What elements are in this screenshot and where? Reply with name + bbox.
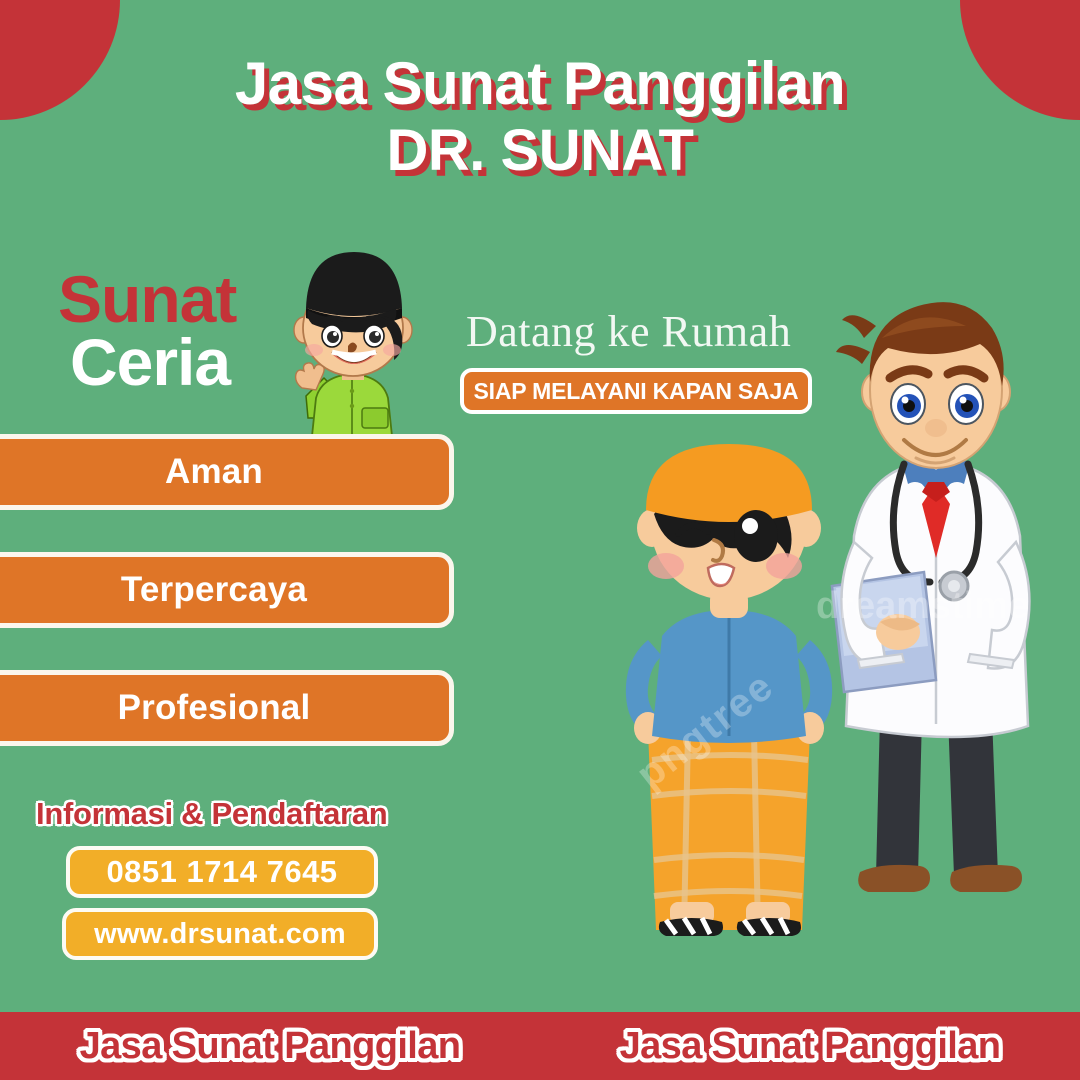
feature-bar-terpercaya[interactable]: Terpercaya — [0, 552, 454, 628]
banner-text-right: Jasa Sunat Panggilan — [620, 1025, 1001, 1068]
feature-bar-label: Aman — [165, 452, 263, 492]
headline-line-2: DR. SUNAT — [0, 120, 1080, 181]
poster-canvas: Jasa Sunat Panggilan DR. SUNAT Sunat Cer… — [0, 0, 1080, 1080]
feature-bar-label: Profesional — [118, 688, 311, 728]
doctor-white-coat-icon: dreamstime — [806, 286, 1066, 936]
mascot-boy-peci-icon — [262, 246, 442, 436]
availability-badge-label: SIAP MELAYANI KAPAN SAJA — [474, 378, 799, 405]
promo-heading: Datang ke Rumah — [466, 306, 791, 357]
brand-word-sunat: Sunat — [58, 268, 236, 331]
bottom-banner: Jasa Sunat Panggilan Jasa Sunat Panggila… — [0, 1012, 1080, 1080]
feature-bar-label: Terpercaya — [121, 570, 307, 610]
phone-number-label: 0851 1714 7645 — [106, 854, 337, 890]
feature-bar-profesional[interactable]: Profesional — [0, 670, 454, 746]
feature-bar-aman[interactable]: Aman — [0, 434, 454, 510]
page-title: Jasa Sunat Panggilan DR. SUNAT — [0, 52, 1080, 181]
availability-badge: SIAP MELAYANI KAPAN SAJA — [460, 368, 812, 414]
contact-section-title: Informasi & Pendaftaran — [36, 796, 387, 832]
watermark-text: dreamstime — [816, 585, 1029, 627]
website-button[interactable]: www.drsunat.com — [62, 908, 378, 960]
brand-lockup: Sunat Ceria — [58, 268, 236, 395]
website-label: www.drsunat.com — [94, 918, 346, 951]
banner-text-left: Jasa Sunat Panggilan — [80, 1025, 461, 1068]
phone-number-button[interactable]: 0851 1714 7645 — [66, 846, 378, 898]
brand-word-ceria: Ceria — [70, 331, 236, 394]
headline-line-1: Jasa Sunat Panggilan — [0, 52, 1080, 116]
